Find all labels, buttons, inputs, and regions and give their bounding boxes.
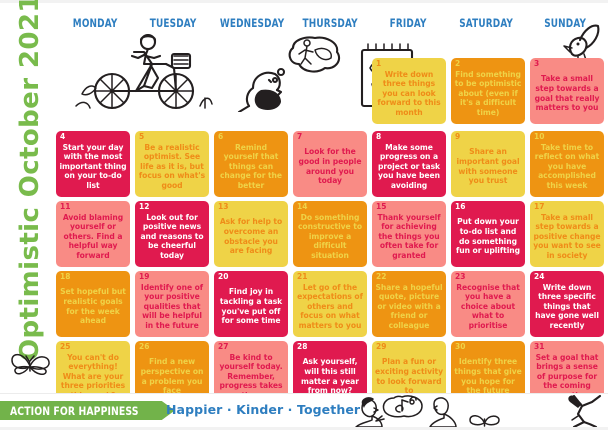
dow-tuesday: TUESDAY (140, 16, 207, 36)
day-number: 12 (139, 202, 149, 211)
week-row: 1Write down three things you can look fo… (56, 58, 604, 124)
day-action-text: Make some progress on a project or task … (375, 139, 443, 191)
day-action-text: Put down your to-do list and do somethin… (454, 213, 522, 255)
day-number: 24 (534, 272, 544, 281)
day-number: 28 (297, 342, 307, 351)
calendar-day-17[interactable]: 17Take a small step towards a positive c… (530, 201, 604, 267)
calendar-day-8[interactable]: 8Make some progress on a project or task… (372, 131, 446, 197)
day-action-text: Identify three things that give you hope… (454, 353, 522, 395)
day-number: 5 (139, 132, 144, 141)
calendar-day-7[interactable]: 7Look for the good in people around you … (293, 131, 367, 197)
day-action-text: Write down three things you can look for… (375, 66, 443, 118)
calendar-day-11[interactable]: 11Avoid blaming yourself or others. Find… (56, 201, 130, 267)
calendar-day-14[interactable]: 14Do something constructive to improve a… (293, 201, 367, 267)
week-row: 11Avoid blaming yourself or others. Find… (56, 201, 604, 267)
day-number: 2 (455, 59, 460, 68)
day-number: 29 (376, 342, 386, 351)
action-for-happiness-banner[interactable]: ACTION FOR HAPPINESS (0, 401, 175, 420)
page-title: Optimistic October 2021 (15, 5, 45, 361)
day-number: 17 (534, 202, 544, 211)
day-action-text: Let go of the expectations of others and… (296, 279, 364, 331)
day-number: 15 (376, 202, 386, 211)
day-number: 26 (139, 342, 149, 351)
calendar-day-2[interactable]: 2Find something to be optimistic about (… (451, 58, 525, 124)
day-action-text: Remind yourself that things can change f… (217, 139, 285, 191)
calendar-cell-empty (135, 58, 209, 124)
day-number: 14 (297, 202, 307, 211)
calendar-day-22[interactable]: 22Share a hopeful quote, picture or vide… (372, 271, 446, 337)
day-action-text: Plan a fun or exciting activity to look … (375, 353, 443, 395)
day-number: 23 (455, 272, 465, 281)
day-action-text: Take a small step towards a positive cha… (533, 209, 601, 261)
day-action-text: Take time to reflect on what you have ac… (533, 139, 601, 191)
day-number: 4 (60, 132, 65, 141)
day-action-text: Take a small step towards a goal that re… (533, 70, 601, 112)
day-action-text: Look out for positive news and reasons t… (138, 209, 206, 261)
day-number: 20 (218, 272, 228, 281)
calendar-day-18[interactable]: 18Set hopeful but realistic goals for th… (56, 271, 130, 337)
day-action-text: Be a realistic optimist. See life as it … (138, 139, 206, 191)
day-number: 22 (376, 272, 386, 281)
handstand-person-illustration (568, 395, 600, 427)
calendar-day-9[interactable]: 9Share an important goal with someone yo… (451, 131, 525, 197)
calendar-day-10[interactable]: 10Take time to reflect on what you have … (530, 131, 604, 197)
day-number: 1 (376, 59, 381, 68)
calendar-day-20[interactable]: 20Find joy in tackling a task you've put… (214, 271, 288, 337)
calendar-day-13[interactable]: 13Ask for help to overcome an obstacle y… (214, 201, 288, 267)
day-number: 7 (297, 132, 302, 141)
day-action-text: Find a new perspective on a problem you … (138, 353, 206, 395)
calendar-grid: MONDAY TUESDAY WEDNESDAY THURSDAY FRIDAY… (56, 16, 604, 394)
calendar-poster: Optimistic October 2021 MONDAY TUESDAY W… (0, 0, 608, 430)
day-action-text: Ask for help to overcome an obstacle you… (217, 213, 285, 255)
dow-monday: MONDAY (61, 16, 128, 36)
butterfly-illustration (8, 346, 54, 380)
day-number: 3 (534, 59, 539, 68)
day-number: 10 (534, 132, 544, 141)
calendar-cell-empty (293, 58, 367, 124)
calendar-day-19[interactable]: 19Identify one of your positive qualitie… (135, 271, 209, 337)
day-action-text: Do something constructive to improve a d… (296, 209, 364, 261)
day-number: 21 (297, 272, 307, 281)
week-row: 18Set hopeful but realistic goals for th… (56, 271, 604, 337)
footer: ACTION FOR HAPPINESS Happier · Kinder · … (0, 393, 608, 427)
day-number: 9 (455, 132, 460, 141)
day-number: 25 (60, 342, 70, 351)
calendar-day-24[interactable]: 24Write down three specific things that … (530, 271, 604, 337)
calendar-day-16[interactable]: 16Put down your to-do list and do someth… (451, 201, 525, 267)
calendar-day-23[interactable]: 23Recognise that you have a choice about… (451, 271, 525, 337)
butterfly-illustration-bottom (470, 416, 499, 426)
day-number: 31 (534, 342, 544, 351)
calendar-cell-empty (56, 58, 130, 124)
dow-saturday: SATURDAY (453, 16, 520, 36)
day-of-week-header-row: MONDAY TUESDAY WEDNESDAY THURSDAY FRIDAY… (56, 16, 604, 36)
day-action-text: Find something to be optimistic about (e… (454, 66, 522, 118)
day-action-text: Share a hopeful quote, picture or video … (375, 279, 443, 331)
day-action-text: Find joy in tackling a task you've put o… (217, 283, 285, 325)
day-number: 13 (218, 202, 228, 211)
calendar-day-1[interactable]: 1Write down three things you can look fo… (372, 58, 446, 124)
day-action-text: Avoid blaming yourself or others. Find a… (59, 209, 127, 261)
day-action-text: Set hopeful but realistic goals for the … (59, 283, 127, 325)
calendar-cell-empty (214, 58, 288, 124)
day-number: 6 (218, 132, 223, 141)
day-number: 19 (139, 272, 149, 281)
footer-illustration-group (338, 394, 608, 427)
day-action-text: Share an important goal with someone you… (454, 143, 522, 185)
title-rail: Optimistic October 2021 (2, 0, 54, 396)
calendar-day-21[interactable]: 21Let go of the expectations of others a… (293, 271, 367, 337)
day-action-text: Thank yourself for achieving the things … (375, 209, 443, 261)
calendar-day-12[interactable]: 12Look out for positive news and reasons… (135, 201, 209, 267)
calendar-day-5[interactable]: 5Be a realistic optimist. See life as it… (135, 131, 209, 197)
dow-thursday: THURSDAY (296, 16, 363, 36)
day-action-text: Write down three specific things that ha… (533, 279, 601, 331)
day-action-text: Recognise that you have a choice about w… (454, 279, 522, 331)
day-number: 18 (60, 272, 70, 281)
day-number: 11 (60, 202, 70, 211)
day-action-text: Look for the good in people around you t… (296, 143, 364, 185)
day-number: 30 (455, 342, 465, 351)
calendar-weeks: 1Write down three things you can look fo… (56, 38, 604, 394)
day-number: 8 (376, 132, 381, 141)
day-action-text: Identify one of your positive qualities … (138, 279, 206, 331)
top-edge (0, 0, 608, 3)
dow-sunday: SUNDAY (531, 16, 598, 36)
day-action-text: Start your day with the most important t… (59, 139, 127, 191)
dow-friday: FRIDAY (375, 16, 442, 36)
calendar-day-4[interactable]: 4Start your day with the most important … (56, 131, 130, 197)
week-row: 4Start your day with the most important … (56, 131, 604, 197)
dow-wednesday: WEDNESDAY (218, 16, 285, 36)
calendar-day-3[interactable]: 3Take a small step towards a goal that r… (530, 58, 604, 124)
day-action-text: Ask yourself, will this still matter a y… (296, 353, 364, 395)
tagline: Happier · Kinder · Together (166, 402, 360, 417)
calendar-day-15[interactable]: 15Thank yourself for achieving the thing… (372, 201, 446, 267)
organisation-name: ACTION FOR HAPPINESS (10, 404, 139, 418)
two-people-talking-guitar-illustration (356, 396, 456, 427)
day-number: 27 (218, 342, 228, 351)
calendar-day-6[interactable]: 6Remind yourself that things can change … (214, 131, 288, 197)
day-number: 16 (455, 202, 465, 211)
